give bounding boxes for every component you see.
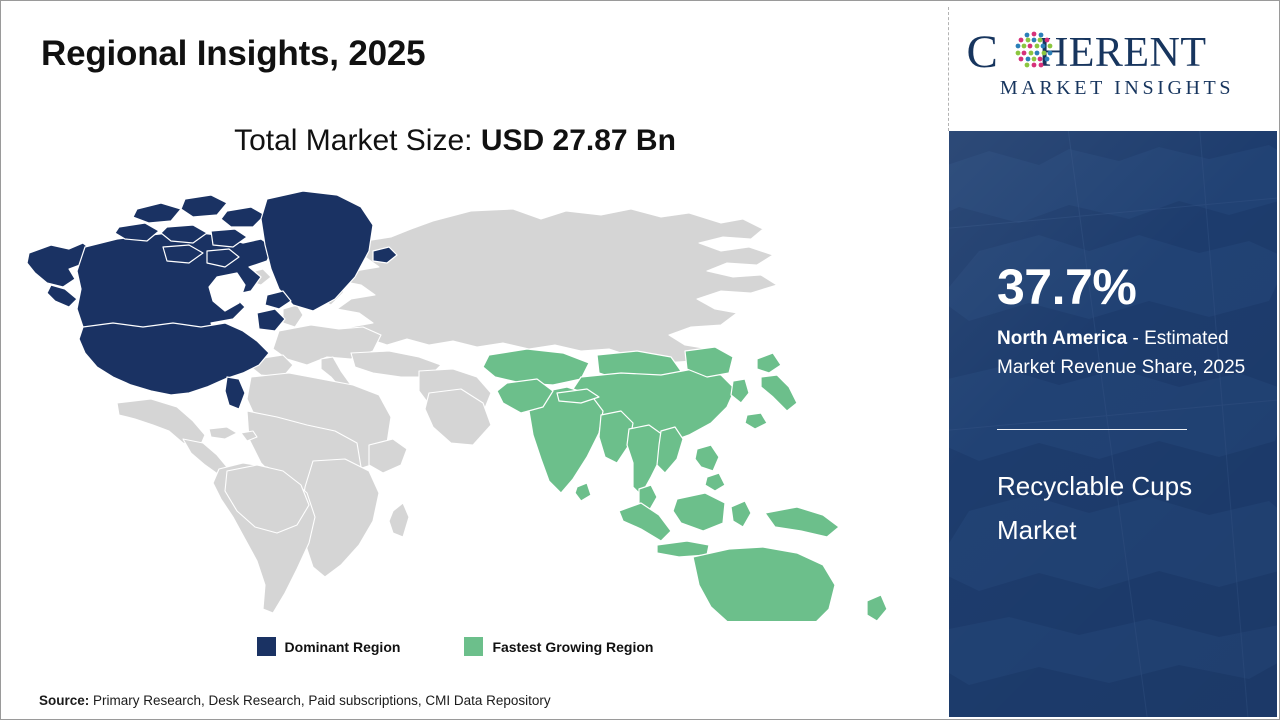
brand-logo: C HERENT [953,1,1280,131]
legend-item-dominant: Dominant Region [257,637,401,656]
source-label: Source: [39,693,89,708]
map-region-asia-pacific [483,347,893,621]
market-size-value: USD 27.87 Bn [481,124,676,157]
legend-label-fastest-growing: Fastest Growing Region [492,639,653,655]
right-panel-content: 37.7% North America - Estimated Market R… [997,131,1265,717]
stat-percentage: 37.7% [997,262,1136,312]
logo-letter-c: C [967,29,998,76]
market-name: Recyclable Cups Market [997,464,1247,552]
logo-inner: C HERENT [967,24,1267,108]
world-map [21,181,901,621]
infographic-slide: Regional Insights, 2025 Total Market Siz… [0,0,1280,720]
source-note: Source: Primary Research, Desk Research,… [39,693,551,708]
market-size-label: Total Market Size: [234,124,481,157]
logo-brand-rest: HERENT [1038,32,1207,74]
legend-swatch-fastest-growing [464,637,483,656]
stat-region-name: North America [997,328,1127,349]
map-legend: Dominant Region Fastest Growing Region [1,637,909,656]
globe-dot-icon [1012,28,1056,72]
right-stat-panel: 37.7% North America - Estimated Market R… [949,131,1277,717]
total-market-size: Total Market Size: USD 27.87 Bn [1,124,909,158]
page-title: Regional Insights, 2025 [41,34,425,74]
legend-swatch-dominant [257,637,276,656]
panel-horizontal-rule [997,429,1187,430]
vertical-dashed-divider [948,7,949,131]
source-text: Primary Research, Desk Research, Paid su… [89,693,550,708]
left-content-panel: Regional Insights, 2025 Total Market Siz… [1,1,949,719]
world-map-container [21,181,901,621]
logo-tagline: MARKET INSIGHTS [968,77,1267,100]
legend-item-fastest-growing: Fastest Growing Region [464,637,653,656]
legend-label-dominant: Dominant Region [285,639,401,655]
stat-description: North America - Estimated Market Revenue… [997,325,1259,383]
